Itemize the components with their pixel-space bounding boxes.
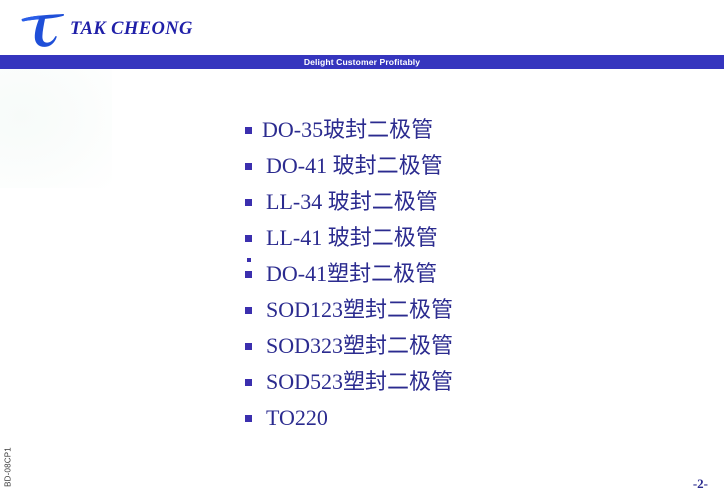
document-side-code-label: BD-08CP1 bbox=[4, 447, 13, 487]
slide-canvas: TAK CHEONG Delight Customer Profitably D… bbox=[0, 0, 724, 502]
stray-dot-artifact bbox=[247, 258, 251, 262]
list-item-label: SOD123塑封二极管 bbox=[266, 298, 453, 321]
square-bullet-icon bbox=[245, 379, 252, 386]
list-item: SOD523塑封二极管 bbox=[245, 364, 685, 400]
slogan-text: Delight Customer Profitably bbox=[304, 58, 420, 67]
slogan-banner: Delight Customer Profitably bbox=[0, 55, 724, 69]
list-item: SOD123塑封二极管 bbox=[245, 292, 685, 328]
tau-logo-icon bbox=[18, 10, 68, 48]
brand-name: TAK CHEONG bbox=[70, 19, 193, 40]
list-item-label: DO-35玻封二极管 bbox=[262, 118, 433, 141]
square-bullet-icon bbox=[245, 199, 252, 206]
square-bullet-icon bbox=[245, 343, 252, 350]
list-item-label: SOD323塑封二极管 bbox=[266, 334, 453, 357]
list-item: DO-41塑封二极管 bbox=[245, 256, 685, 292]
square-bullet-icon bbox=[245, 271, 252, 278]
list-item-label: DO-41塑封二极管 bbox=[266, 262, 437, 285]
slide-header: TAK CHEONG bbox=[0, 0, 724, 52]
company-logo-lockup: TAK CHEONG bbox=[18, 10, 193, 48]
product-bullet-list: DO-35玻封二极管 DO-41 玻封二极管 LL-34 玻封二极管 LL-41… bbox=[245, 112, 685, 436]
square-bullet-icon bbox=[245, 235, 252, 242]
square-bullet-icon bbox=[245, 307, 252, 314]
page-number: -2- bbox=[693, 476, 708, 492]
list-item-label: SOD523塑封二极管 bbox=[266, 370, 453, 393]
background-watermark bbox=[0, 68, 112, 188]
list-item: DO-41 玻封二极管 bbox=[245, 148, 685, 184]
square-bullet-icon bbox=[245, 127, 252, 134]
document-side-code: BD-08CP1 bbox=[1, 438, 15, 496]
list-item-label: LL-34 玻封二极管 bbox=[266, 190, 438, 213]
list-item: TO220 bbox=[245, 400, 685, 436]
square-bullet-icon bbox=[245, 163, 252, 170]
list-item: SOD323塑封二极管 bbox=[245, 328, 685, 364]
list-item: LL-34 玻封二极管 bbox=[245, 184, 685, 220]
list-item-label: DO-41 玻封二极管 bbox=[266, 154, 443, 177]
list-item-label: TO220 bbox=[266, 406, 328, 429]
list-item: LL-41 玻封二极管 bbox=[245, 220, 685, 256]
list-item-label: LL-41 玻封二极管 bbox=[266, 226, 438, 249]
square-bullet-icon bbox=[245, 415, 252, 422]
list-item: DO-35玻封二极管 bbox=[245, 112, 685, 148]
